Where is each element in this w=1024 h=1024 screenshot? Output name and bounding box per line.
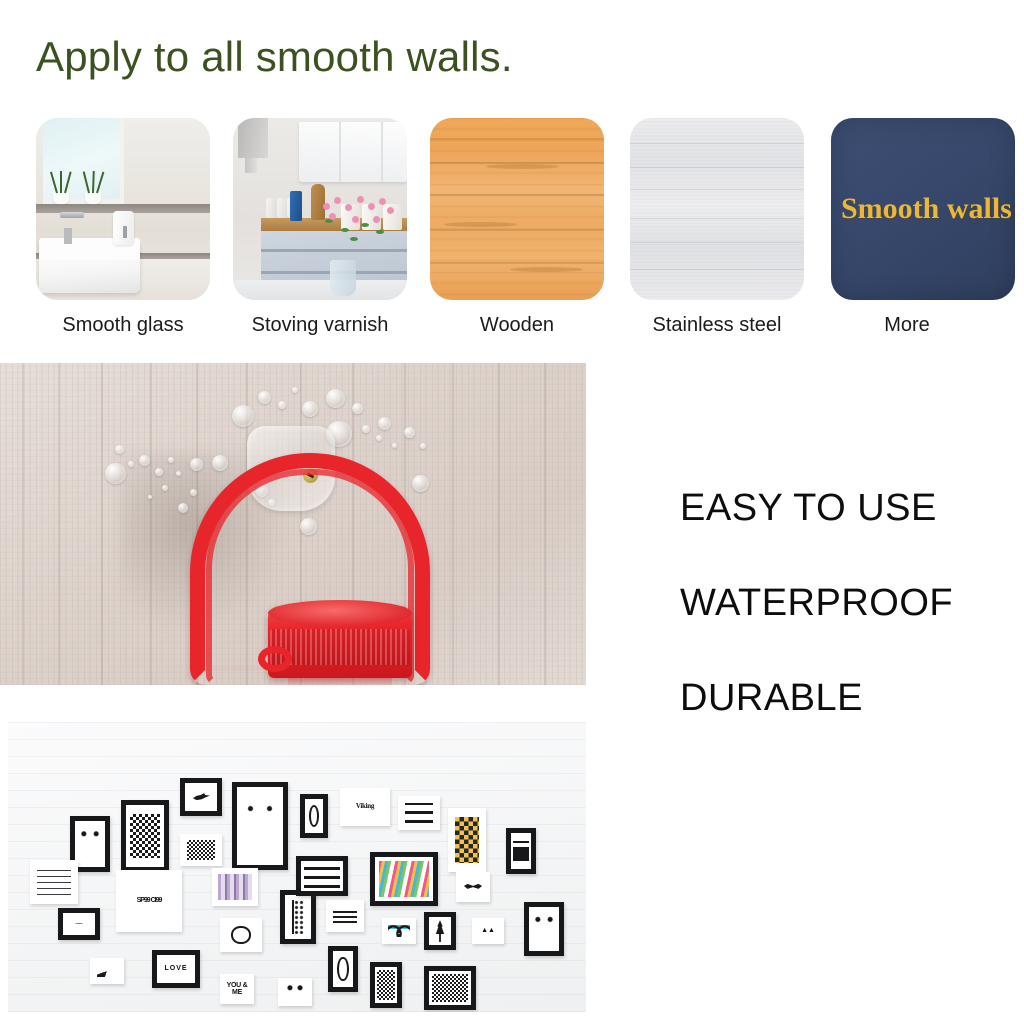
frame-text: LOVE bbox=[157, 955, 195, 983]
picture-frame bbox=[506, 828, 536, 874]
frame-text: YOU & ME bbox=[224, 978, 250, 1000]
surface-tile-label: More bbox=[815, 314, 999, 337]
feature-item: WATERPROOF bbox=[680, 581, 953, 625]
picture-frame bbox=[30, 860, 78, 904]
picture-frame: Viking bbox=[340, 788, 390, 826]
surface-tile-label: Stoving varnish bbox=[233, 314, 407, 337]
picture-frame: SP99 CI99 bbox=[116, 870, 182, 932]
picture-frame: ▲▲ bbox=[472, 918, 504, 944]
surface-tile-stoving-varnish[interactable]: Stoving varnish bbox=[233, 118, 407, 300]
gallery-wall-photo: Viking SP99 CI99 — bbox=[8, 722, 586, 1012]
picture-frame bbox=[326, 900, 364, 932]
steel-swatch bbox=[630, 118, 804, 300]
feature-item: DURABLE bbox=[680, 676, 953, 720]
picture-frame bbox=[90, 958, 124, 984]
picture-frame bbox=[424, 912, 456, 950]
picture-frame bbox=[382, 918, 416, 944]
picture-frame bbox=[370, 852, 438, 906]
frame-text: SP99 CI99 bbox=[120, 874, 178, 928]
surface-tile-label: Smooth glass bbox=[36, 314, 210, 337]
picture-frame bbox=[300, 794, 328, 838]
picture-frame bbox=[424, 966, 476, 1010]
picture-frame bbox=[278, 978, 312, 1006]
surface-tile-wooden[interactable]: Wooden bbox=[430, 118, 604, 300]
hook-demo-photo bbox=[0, 363, 586, 685]
surface-tile-label: Wooden bbox=[430, 314, 604, 337]
picture-frame bbox=[524, 902, 564, 956]
picture-frame bbox=[232, 782, 288, 870]
product-infographic: Apply to all smooth walls. bbox=[0, 0, 1024, 1024]
picture-frame bbox=[328, 946, 358, 992]
bathroom-thumbnail bbox=[36, 118, 210, 300]
picture-frame bbox=[370, 962, 402, 1008]
picture-frame bbox=[121, 800, 169, 872]
picture-frame: — bbox=[58, 908, 100, 940]
picture-frame bbox=[280, 890, 316, 944]
picture-frame: YOU & ME bbox=[220, 974, 254, 1004]
kitchen-thumbnail bbox=[233, 118, 407, 300]
bottle-cap-top bbox=[268, 600, 412, 626]
surface-tile-label: Stainless steel bbox=[630, 314, 804, 337]
frame-text: Viking bbox=[344, 792, 386, 822]
picture-frame bbox=[448, 808, 486, 872]
feature-item: EASY TO USE bbox=[680, 486, 953, 530]
navy-swatch-text: Smooth walls bbox=[841, 192, 1012, 226]
surface-tile-smooth-glass[interactable]: Smooth glass bbox=[36, 118, 210, 300]
picture-frame bbox=[180, 778, 222, 816]
picture-frame bbox=[296, 856, 348, 896]
navy-swatch: Smooth walls bbox=[831, 118, 1015, 300]
picture-frame bbox=[212, 868, 258, 906]
picture-frame: LOVE bbox=[152, 950, 200, 988]
surface-tile-strip: Smooth glass bbox=[0, 118, 1024, 353]
picture-frame bbox=[398, 796, 440, 830]
wood-swatch bbox=[430, 118, 604, 300]
picture-frame bbox=[456, 872, 490, 902]
surface-tile-stainless-steel[interactable]: Stainless steel bbox=[630, 118, 804, 300]
page-headline: Apply to all smooth walls. bbox=[36, 33, 513, 81]
surface-tile-more[interactable]: Smooth walls More bbox=[831, 118, 1015, 300]
picture-frame bbox=[180, 834, 222, 866]
bottle-cap-ring bbox=[258, 646, 292, 672]
picture-frame bbox=[220, 918, 262, 952]
feature-list: EASY TO USE WATERPROOF DURABLE bbox=[680, 486, 953, 720]
